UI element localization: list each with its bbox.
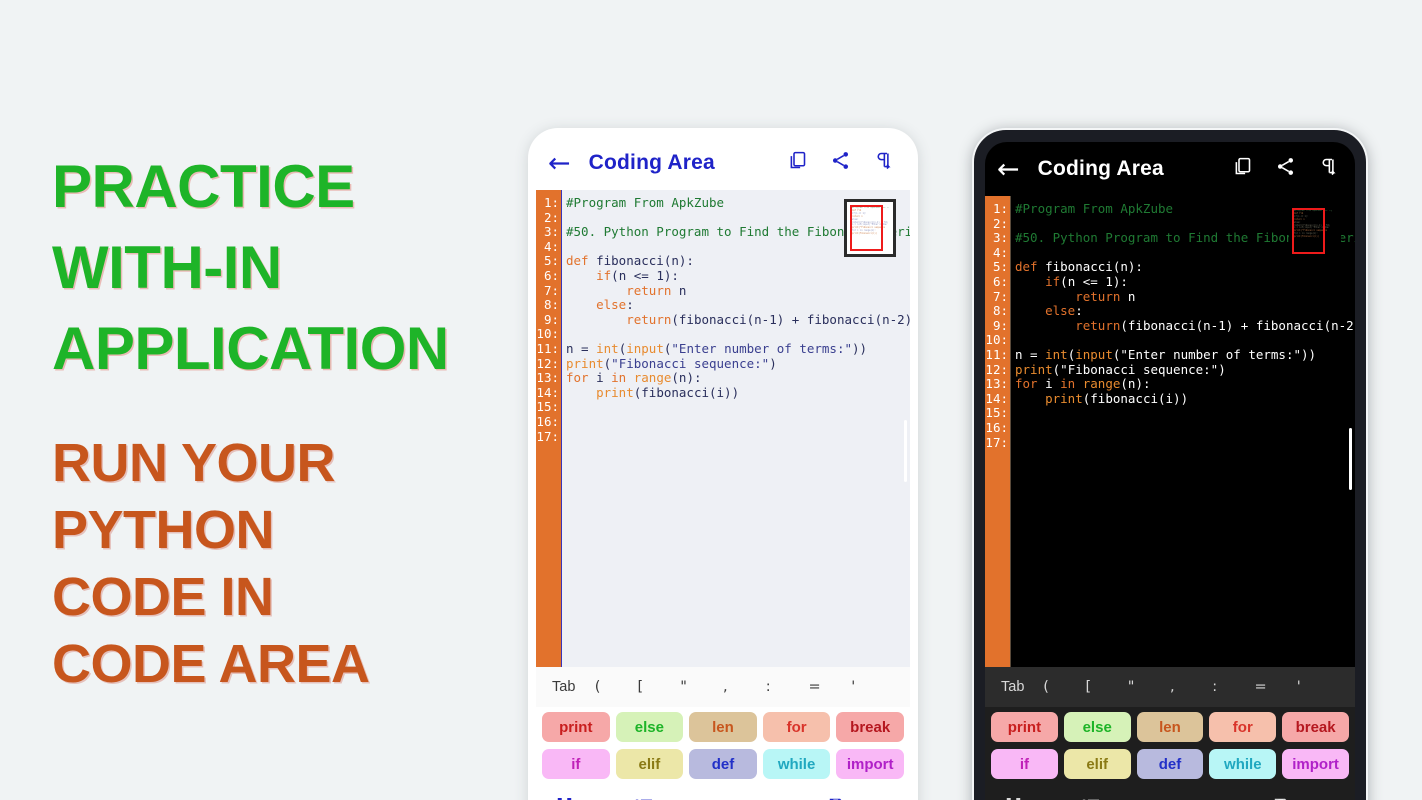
line-number: 7: — [536, 284, 559, 299]
symbol-key-tab[interactable]: Tab — [552, 679, 595, 695]
open-button[interactable]: OPEN — [1183, 796, 1251, 800]
inputs-button[interactable]: INPUTS — [1082, 796, 1161, 800]
keyword-keypad: printelselenforbreak ifelifdefwhileimpor… — [536, 707, 910, 790]
line-number: 9: — [536, 313, 559, 328]
headline-green: PRACTICE WITH-IN APPLICATION — [52, 158, 449, 400]
symbol-key-5[interactable]: : — [766, 679, 809, 695]
code-brackets-icon — [555, 796, 574, 800]
pilcrow-icon[interactable] — [1318, 156, 1339, 182]
code-line[interactable]: for i in range(n): — [1015, 377, 1355, 392]
headline-orange-line-3: CODE IN — [52, 571, 370, 624]
keyword-row-1: printelselenforbreak — [542, 712, 904, 742]
headline-orange: RUN YOUR PYTHON CODE IN CODE AREA — [52, 437, 370, 705]
line-number: 17: — [985, 436, 1008, 451]
code-line[interactable]: for i in range(n): — [566, 371, 910, 386]
code-line[interactable] — [1015, 421, 1355, 436]
vertical-scrollbar[interactable] — [1349, 428, 1352, 490]
code-line[interactable]: else: — [566, 298, 910, 313]
app-bar-actions — [1232, 156, 1339, 182]
line-number: 13: — [985, 377, 1008, 392]
vertical-scrollbar[interactable] — [904, 420, 907, 482]
line-number: 5: — [985, 260, 1008, 275]
code-line[interactable]: return(fibonacci(n-1) + fibonacci(n-2)) — [566, 313, 910, 328]
code-line[interactable]: n = int(input("Enter number of terms:")) — [566, 342, 910, 357]
keyword-key-for[interactable]: for — [763, 712, 831, 742]
code-content[interactable]: #Program From ApkZube #50. Python Progra… — [562, 190, 910, 667]
share-icon[interactable] — [1275, 156, 1296, 182]
keyword-key-len[interactable]: len — [1137, 712, 1204, 742]
line-number: 2: — [985, 217, 1008, 232]
line-number: 8: — [985, 304, 1008, 319]
keyword-row-1: printelselenforbreak — [991, 712, 1349, 742]
floppy-disk-icon — [827, 796, 846, 800]
line-number: 2: — [536, 211, 559, 226]
app-screen-light: ← Coding Area — [536, 136, 910, 800]
code-line[interactable]: print("Fibonacci sequence:") — [566, 357, 910, 372]
line-number: 4: — [985, 246, 1008, 261]
line-number: 17: — [536, 430, 559, 445]
code-line[interactable] — [566, 430, 910, 445]
keyword-key-def[interactable]: def — [1137, 749, 1204, 779]
keyword-key-len[interactable]: len — [689, 712, 757, 742]
app-bar-actions — [787, 150, 894, 176]
code-line[interactable]: print(fibonacci(i)) — [566, 386, 910, 401]
keyword-row-2: ifelifdefwhileimport — [991, 749, 1349, 779]
keyword-key-else[interactable]: else — [616, 712, 684, 742]
keyword-key-elif[interactable]: elif — [1064, 749, 1131, 779]
code-content[interactable]: #Program From ApkZube #50. Python Progra… — [1011, 196, 1355, 667]
symbol-key-7[interactable]: ' — [1297, 679, 1339, 695]
keyword-key-import[interactable]: import — [836, 749, 904, 779]
symbol-key-3[interactable]: " — [1128, 679, 1170, 695]
symbol-key-7[interactable]: ' — [851, 679, 894, 695]
code-line[interactable]: n = int(input("Enter number of terms:")) — [1015, 348, 1355, 363]
keyword-row-2: ifelifdefwhileimport — [542, 749, 904, 779]
back-arrow-icon[interactable]: ← — [997, 156, 1020, 183]
back-arrow-icon[interactable]: ← — [548, 150, 571, 177]
line-number: 3: — [536, 225, 559, 240]
symbol-key-1[interactable]: ( — [595, 679, 638, 695]
phone-mockup-light: ← Coding Area — [528, 128, 918, 800]
code-line[interactable]: if(n <= 1): — [1015, 275, 1355, 290]
code-line[interactable] — [1015, 406, 1355, 421]
minimap-thumbnail[interactable]: #Program From ApkZube #50. Py def fib if… — [844, 199, 896, 257]
code-line[interactable]: if(n <= 1): — [566, 269, 910, 284]
app-bar: ← Coding Area — [536, 136, 910, 190]
floppy-disk-icon — [1272, 796, 1291, 800]
line-number: 11: — [985, 348, 1008, 363]
keyword-key-for[interactable]: for — [1209, 712, 1276, 742]
line-number: 6: — [536, 269, 559, 284]
code-line[interactable]: return n — [1015, 290, 1355, 305]
line-number: 15: — [536, 400, 559, 415]
line-number: 12: — [985, 363, 1008, 378]
line-number: 16: — [985, 421, 1008, 436]
line-number: 7: — [985, 290, 1008, 305]
code-line[interactable] — [1015, 333, 1355, 348]
keyword-key-def[interactable]: def — [689, 749, 757, 779]
line-number: 1: — [985, 202, 1008, 217]
line-number: 8: — [536, 298, 559, 313]
line-number: 4: — [536, 240, 559, 255]
symbol-key-2[interactable]: [ — [1086, 679, 1128, 695]
code-brackets-icon — [1004, 796, 1023, 800]
code-line[interactable] — [566, 327, 910, 342]
symbol-key-tab[interactable]: Tab — [1001, 679, 1043, 695]
share-icon[interactable] — [830, 150, 851, 176]
code-line[interactable]: return n — [566, 284, 910, 299]
open-button[interactable]: OPEN — [736, 796, 804, 800]
symbol-key-4[interactable]: , — [723, 679, 766, 695]
list-input-icon — [635, 796, 654, 800]
symbol-key-3[interactable]: " — [680, 679, 723, 695]
line-number: 14: — [536, 386, 559, 401]
minimap-viewport-rect[interactable] — [850, 205, 883, 251]
action-bar: RUNINPUTSOPENSAVE — [536, 790, 910, 800]
keyword-key-if[interactable]: if — [991, 749, 1058, 779]
keyword-key-print[interactable]: print — [991, 712, 1058, 742]
app-screen-dark: ← Coding Area — [985, 142, 1355, 800]
copy-icon[interactable] — [787, 150, 808, 176]
run-button[interactable]: RUN — [555, 796, 612, 800]
keyword-keypad: printelselenforbreak ifelifdefwhileimpor… — [985, 707, 1355, 790]
folder-icon — [736, 796, 756, 800]
line-number: 16: — [536, 415, 559, 430]
line-number: 9: — [985, 319, 1008, 334]
line-number: 3: — [985, 231, 1008, 246]
page-title: Coding Area — [589, 151, 787, 175]
phone-mockup-dark: ← Coding Area — [972, 128, 1368, 800]
keyword-key-break[interactable]: break — [836, 712, 904, 742]
keyword-key-print[interactable]: print — [542, 712, 610, 742]
code-editor[interactable]: 1:2:3:4:5:6:7:8:9:10:11:12:13:14:15:16:1… — [985, 196, 1355, 667]
line-number: 12: — [536, 357, 559, 372]
line-number: 14: — [985, 392, 1008, 407]
keyword-key-while[interactable]: while — [763, 749, 831, 779]
symbol-key-6[interactable]: = — [809, 679, 852, 695]
line-number: 11: — [536, 342, 559, 357]
code-line[interactable]: print(fibonacci(i)) — [1015, 392, 1355, 407]
line-number-gutter: 1:2:3:4:5:6:7:8:9:10:11:12:13:14:15:16:1… — [536, 190, 562, 667]
line-number: 5: — [536, 254, 559, 269]
code-line[interactable] — [566, 400, 910, 415]
symbol-toolbar: Tab([",:=' — [985, 667, 1355, 707]
symbol-toolbar: Tab([",:=' — [536, 667, 910, 707]
code-line[interactable]: else: — [1015, 304, 1355, 319]
copy-icon[interactable] — [1232, 156, 1253, 182]
symbol-key-2[interactable]: [ — [638, 679, 681, 695]
page-title: Coding Area — [1038, 157, 1232, 181]
pilcrow-icon[interactable] — [873, 150, 894, 176]
action-bar: RUNINPUTSOPENSAVE — [985, 790, 1355, 800]
code-editor[interactable]: 1:2:3:4:5:6:7:8:9:10:11:12:13:14:15:16:1… — [536, 190, 910, 667]
headline-orange-line-1: RUN YOUR — [52, 437, 370, 490]
keyword-key-else[interactable]: else — [1064, 712, 1131, 742]
code-line[interactable] — [1015, 436, 1355, 451]
save-button[interactable]: SAVE — [1272, 796, 1336, 800]
headline-green-line-3: APPLICATION — [52, 320, 449, 379]
headline-orange-line-4: CODE AREA — [52, 638, 370, 691]
keyword-key-import[interactable]: import — [1282, 749, 1349, 779]
keyword-key-elif[interactable]: elif — [616, 749, 684, 779]
keyword-key-break[interactable]: break — [1282, 712, 1349, 742]
headline-orange-line-2: PYTHON — [52, 504, 370, 557]
app-bar: ← Coding Area — [985, 142, 1355, 196]
save-button[interactable]: SAVE — [827, 796, 891, 800]
symbol-key-1[interactable]: ( — [1043, 679, 1085, 695]
headline-green-line-2: WITH-IN — [52, 239, 449, 298]
inputs-button[interactable]: INPUTS — [635, 796, 714, 800]
keyword-key-if[interactable]: if — [542, 749, 610, 779]
line-number: 10: — [985, 333, 1008, 348]
line-number: 13: — [536, 371, 559, 386]
list-input-icon — [1082, 796, 1101, 800]
line-number: 1: — [536, 196, 559, 211]
run-button[interactable]: RUN — [1004, 796, 1061, 800]
promo-banner: PRACTICE WITH-IN APPLICATION RUN YOUR PY… — [0, 0, 1422, 800]
folder-icon — [1183, 796, 1203, 800]
code-line[interactable] — [566, 415, 910, 430]
keyword-key-while[interactable]: while — [1209, 749, 1276, 779]
line-number-gutter: 1:2:3:4:5:6:7:8:9:10:11:12:13:14:15:16:1… — [985, 196, 1011, 667]
headline-green-line-1: PRACTICE — [52, 158, 449, 217]
line-number: 6: — [985, 275, 1008, 290]
minimap-viewport-rect[interactable] — [1292, 208, 1325, 254]
symbol-key-6[interactable]: = — [1255, 679, 1297, 695]
symbol-key-4[interactable]: , — [1170, 679, 1212, 695]
line-number: 15: — [985, 406, 1008, 421]
code-line[interactable]: print("Fibonacci sequence:") — [1015, 363, 1355, 378]
minimap-thumbnail[interactable]: #Program From ApkZube #50. Py def fib if… — [1289, 205, 1341, 263]
symbol-key-5[interactable]: : — [1212, 679, 1254, 695]
code-line[interactable]: return(fibonacci(n-1) + fibonacci(n-2)) — [1015, 319, 1355, 334]
line-number: 10: — [536, 327, 559, 342]
